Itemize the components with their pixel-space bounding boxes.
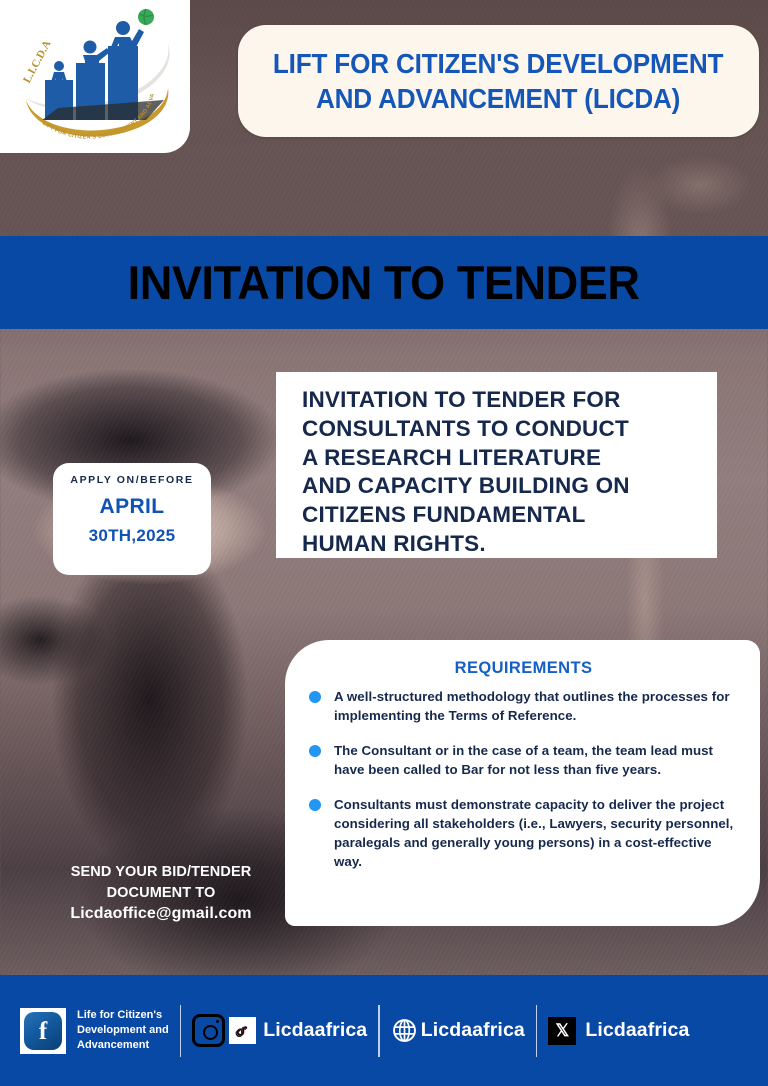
headline-line-2: CONSULTANTS TO CONDUCT <box>302 415 717 444</box>
organization-title-line-2: AND ADVANCEMENT (LICDA) <box>273 81 723 116</box>
requirements-list: A well-structured methodology that outli… <box>307 687 740 871</box>
requirement-text: Consultants must demonstrate capacity to… <box>334 797 733 869</box>
tender-poster: L.I.C.D.A LIFT FOR CITIZEN'S DEVELOPMENT… <box>0 0 768 1086</box>
requirement-text: A well-structured methodology that outli… <box>334 689 730 723</box>
list-item: A well-structured methodology that outli… <box>307 687 740 725</box>
footer-divider <box>378 1005 380 1057</box>
facebook-name-line-2: Development and <box>77 1023 169 1038</box>
headline-line-3: A RESEARCH LITERATURE <box>302 444 717 473</box>
deadline-card: APPLY ON/BEFORE APRIL 30TH,2025 <box>53 463 211 575</box>
footer-divider <box>536 1005 538 1057</box>
deadline-label: APPLY ON/BEFORE <box>53 474 211 486</box>
x-twitter-glyph: 𝕏 <box>555 1022 569 1039</box>
submission-line-1: SEND YOUR BID/TENDER <box>34 862 288 883</box>
website-handle: Licdaafrica <box>421 1019 525 1042</box>
headline-text: INVITATION TO TENDER FOR CONSULTANTS TO … <box>302 386 717 559</box>
organization-title-card: LIFT FOR CITIZEN'S DEVELOPMENT AND ADVAN… <box>238 25 759 137</box>
facebook-group[interactable]: f Life for Citizen's Development and Adv… <box>20 1008 169 1054</box>
requirements-card: REQUIREMENTS A well-structured methodolo… <box>285 640 760 926</box>
bullet-icon <box>309 799 321 811</box>
headline-line-1: INVITATION TO TENDER FOR <box>302 386 717 415</box>
requirements-title: REQUIREMENTS <box>307 659 740 678</box>
submission-email: Licdaoffice@gmail.com <box>34 905 288 923</box>
requirement-text: The Consultant or in the case of a team,… <box>334 743 713 777</box>
facebook-page-name: Life for Citizen's Development and Advan… <box>77 1008 169 1053</box>
headline-card: INVITATION TO TENDER FOR CONSULTANTS TO … <box>276 372 717 558</box>
facebook-icon[interactable]: f <box>20 1008 66 1054</box>
logo-card: L.I.C.D.A LIFT FOR CITIZEN'S DEVELOPMENT… <box>0 0 190 153</box>
list-item: The Consultant or in the case of a team,… <box>307 741 740 779</box>
bullet-icon <box>309 745 321 757</box>
bullet-icon <box>309 691 321 703</box>
licda-logo-icon: L.I.C.D.A LIFT FOR CITIZEN'S DEVELOPMENT… <box>18 8 173 146</box>
svg-text:L.I.C.D.A: L.I.C.D.A <box>21 38 53 85</box>
headline-line-5: CITIZENS FUNDAMENTAL <box>302 501 717 530</box>
tiktok-icon[interactable] <box>229 1017 256 1044</box>
submission-block: SEND YOUR BID/TENDER DOCUMENT TO Licdaof… <box>34 862 288 923</box>
footer-divider <box>180 1005 182 1057</box>
globe-icon[interactable] <box>391 1017 418 1044</box>
facebook-name-line-3: Advancement <box>77 1038 169 1053</box>
invitation-banner: INVITATION TO TENDER <box>0 236 768 329</box>
footer-bar: f Life for Citizen's Development and Adv… <box>0 975 768 1086</box>
headline-line-6: HUMAN RIGHTS. <box>302 530 717 559</box>
invitation-banner-text: INVITATION TO TENDER <box>128 255 640 310</box>
list-item: Consultants must demonstrate capacity to… <box>307 795 740 871</box>
organization-title: LIFT FOR CITIZEN'S DEVELOPMENT AND ADVAN… <box>264 46 733 116</box>
instagram-icon[interactable] <box>192 1014 225 1047</box>
deadline-day: 30TH,2025 <box>53 526 211 546</box>
instagram-tiktok-handle: Licdaafrica <box>263 1019 367 1042</box>
headline-line-4: AND CAPACITY BUILDING ON <box>302 472 717 501</box>
website-group[interactable]: Licdaafrica <box>391 1017 525 1044</box>
deadline-month: APRIL <box>53 495 211 519</box>
submission-line-2: DOCUMENT TO <box>34 883 288 904</box>
x-twitter-icon[interactable]: 𝕏 <box>548 1017 576 1045</box>
organization-title-line-1: LIFT FOR CITIZEN'S DEVELOPMENT <box>273 46 723 81</box>
tiktok-glyph <box>233 1021 252 1040</box>
facebook-name-line-1: Life for Citizen's <box>77 1008 169 1023</box>
x-twitter-group[interactable]: 𝕏 Licdaafrica <box>548 1017 689 1045</box>
instagram-tiktok-group[interactable]: Licdaafrica <box>192 1014 367 1047</box>
x-twitter-handle: Licdaafrica <box>585 1019 689 1042</box>
facebook-icon-tile: f <box>24 1012 62 1050</box>
facebook-glyph: f <box>39 1019 47 1044</box>
